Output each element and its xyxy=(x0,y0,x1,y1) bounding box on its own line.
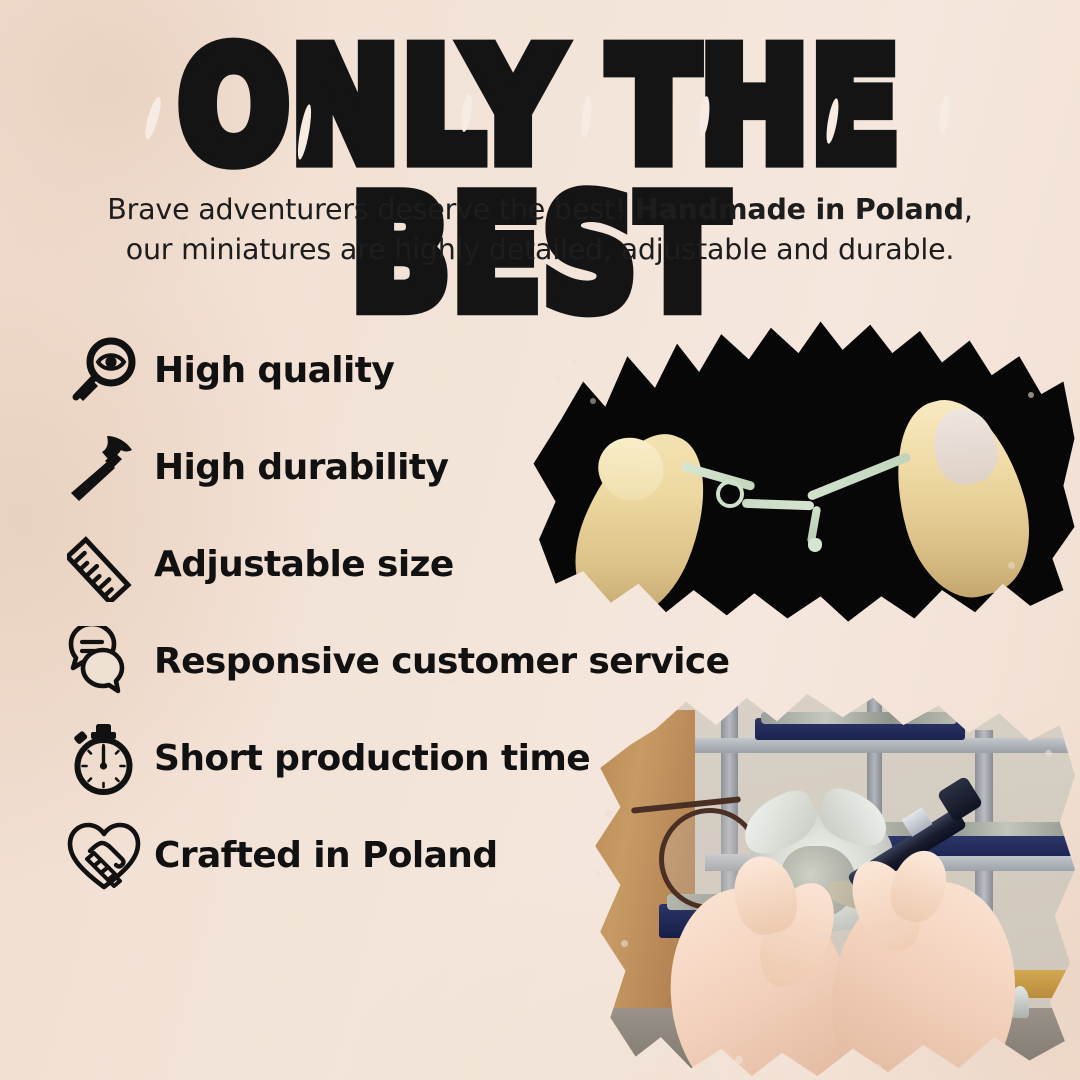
shelf-board-top xyxy=(695,738,1080,753)
subtitle-bold: Handmade in Poland xyxy=(635,193,964,226)
miniature-strip-right xyxy=(806,452,911,502)
ruler-icon xyxy=(62,526,146,604)
feature-label: Adjustable size xyxy=(154,544,454,585)
subtitle-line-2: our miniatures are highly detailed, adju… xyxy=(0,230,1080,270)
handshake-heart-icon xyxy=(62,817,146,895)
tray-top-parts xyxy=(761,712,957,724)
edge-speck xyxy=(1028,392,1034,398)
feature-label: Responsive customer service xyxy=(154,641,729,682)
subtitle-prefix: Brave adventurers deserve the best! xyxy=(107,193,635,226)
miniature-tip xyxy=(808,538,822,552)
edge-speck xyxy=(590,398,596,404)
miniature-joint-ring xyxy=(716,480,744,508)
promo-poster: ONLY THE BEST Brave adventurers deserve … xyxy=(0,0,1080,1080)
subtitle: Brave adventurers deserve the best! Hand… xyxy=(0,190,1080,271)
speech-bubbles-icon xyxy=(62,623,146,701)
workshop-painting-photo xyxy=(575,690,1080,1080)
page-title-text: ONLY THE BEST xyxy=(0,34,1080,329)
hammer-icon xyxy=(62,429,146,507)
edge-speck xyxy=(554,374,561,381)
edge-speck xyxy=(621,940,628,947)
feature-label: High durability xyxy=(154,447,448,488)
workshop-scene xyxy=(575,690,1080,1080)
magnifier-eye-icon xyxy=(62,332,146,410)
subtitle-suffix: , xyxy=(964,193,973,226)
edge-speck xyxy=(875,1064,881,1070)
flexible-miniature-photo xyxy=(528,312,1080,628)
feature-label: Crafted in Poland xyxy=(154,835,498,876)
edge-speck xyxy=(735,1056,743,1064)
edge-speck xyxy=(572,360,577,365)
subtitle-line-1: Brave adventurers deserve the best! Hand… xyxy=(0,190,1080,230)
miniature-strip-mid xyxy=(742,499,814,511)
feature-label: High quality xyxy=(154,350,394,391)
edge-speck xyxy=(595,870,601,876)
edge-speck xyxy=(1008,562,1015,569)
feature-label: Short production time xyxy=(154,738,590,779)
top-photo-scene xyxy=(528,312,1080,628)
edge-speck xyxy=(605,810,613,818)
edge-speck xyxy=(1045,750,1052,757)
stopwatch-icon xyxy=(62,720,146,798)
